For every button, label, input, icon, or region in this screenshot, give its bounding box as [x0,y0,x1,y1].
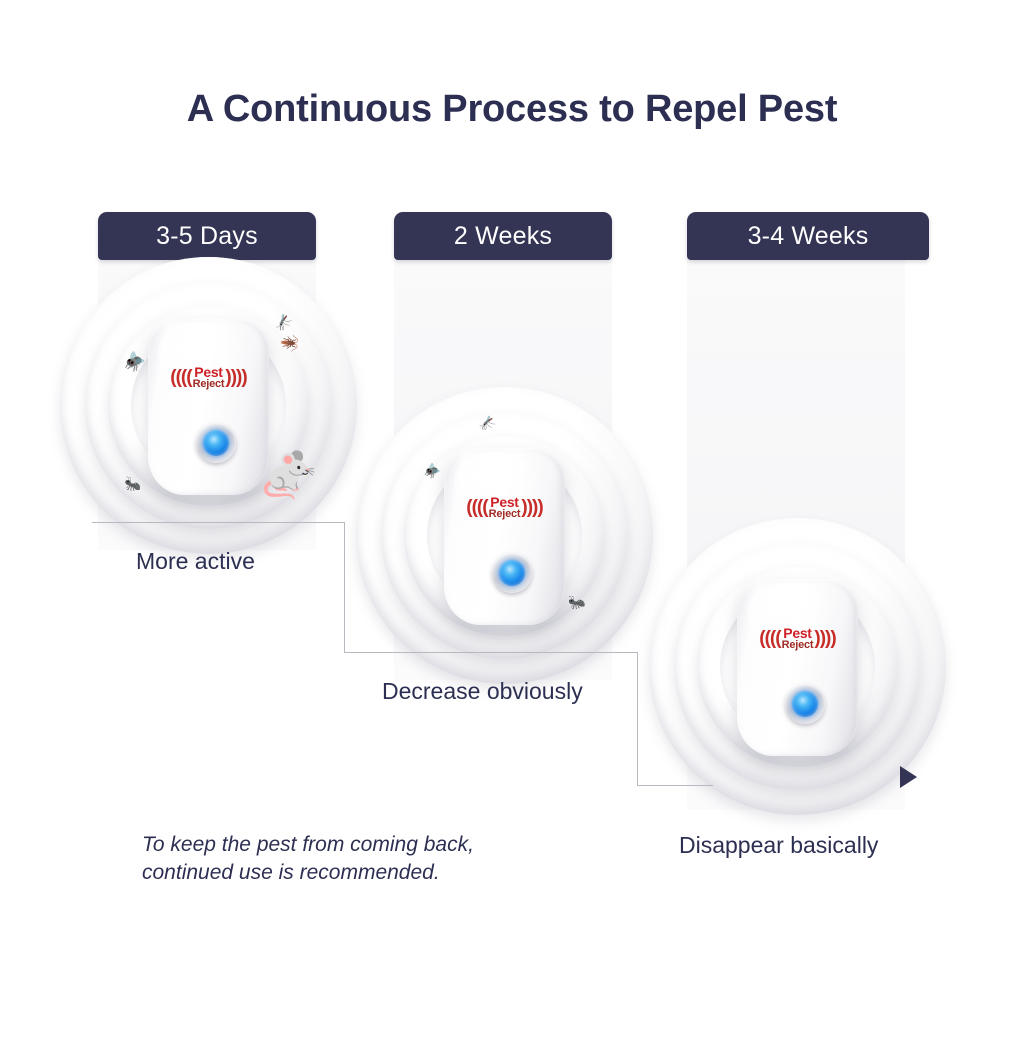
pest-reject-process-infographic: A Continuous Process to Repel Pest 3-5 D… [0,0,1024,1037]
stage-1-badge: 3-5 Days [98,212,316,260]
logo-secondary-text: Reject [782,640,814,650]
logo-secondary-text: Reject [489,509,521,519]
stage-2-device-logo: (((( Pest Reject )))) [444,496,565,519]
stage-1-badge-label: 3-5 Days [156,222,258,251]
logo-primary-text: Pest [490,496,518,509]
stage-1-device-logo: (((( Pest Reject )))) [148,366,269,389]
stage-2-logo-words: Pest Reject [489,496,521,519]
led-glow [203,430,229,456]
stage-3-badge: 3-4 Weeks [687,212,929,260]
sound-wave-left-icon: (((( [759,629,780,648]
sound-wave-left-icon: (((( [170,368,191,387]
stage-1-connector-vertical [344,522,345,652]
logo-primary-text: Pest [194,366,222,379]
footnote-text: To keep the pest from coming back, conti… [142,831,474,886]
stage-1-caption: More active [136,548,255,575]
stage-1-pest-reject-device: (((( Pest Reject )))) [148,318,269,495]
stage-3-badge-label: 3-4 Weeks [748,222,869,251]
stage-2-led-indicator [492,553,532,593]
stage-3-led-indicator [785,684,825,724]
logo-primary-text: Pest [783,627,811,640]
stage-2-caption: Decrease obviously [382,678,583,705]
stage-2-connector-vertical [637,652,638,786]
stage-3-pest-reject-device: (((( Pest Reject )))) [737,579,858,756]
stage-3-device-logo: (((( Pest Reject )))) [737,627,858,650]
logo-secondary-text: Reject [193,379,225,389]
stage-2-connector-horizontal [344,652,638,653]
led-glow [499,560,525,586]
stage-1-logo-words: Pest Reject [193,366,225,389]
stage-2-badge: 2 Weeks [394,212,612,260]
stage-2-pest-reject-device: (((( Pest Reject )))) [444,448,565,625]
led-glow [792,691,818,717]
sound-wave-left-icon: (((( [466,498,487,517]
page-title: A Continuous Process to Repel Pest [0,88,1024,131]
stage-1-led-indicator [196,423,236,463]
sound-wave-right-icon: )))) [521,498,542,517]
stage-3-logo-words: Pest Reject [782,627,814,650]
process-arrow-icon [900,766,917,788]
stage-1-connector-horizontal [92,522,345,523]
sound-wave-right-icon: )))) [814,629,835,648]
stage-3-caption: Disappear basically [679,832,878,859]
stage-2-badge-label: 2 Weeks [454,222,552,251]
stage-3-connector-horizontal [637,785,713,786]
sound-wave-right-icon: )))) [225,368,246,387]
